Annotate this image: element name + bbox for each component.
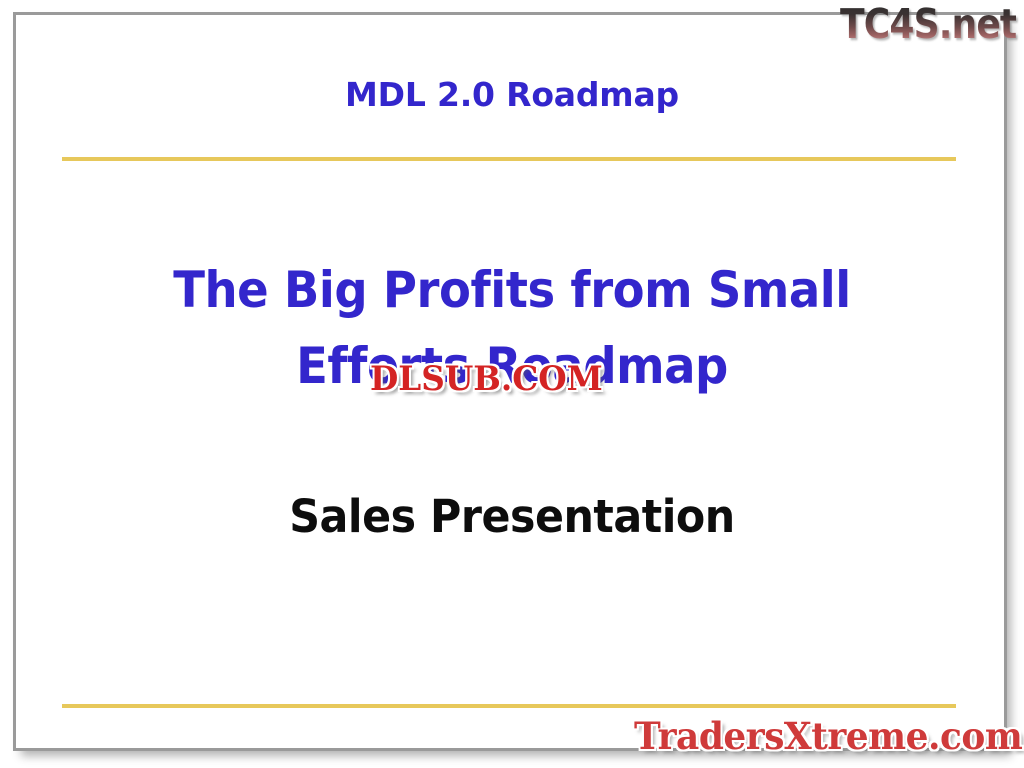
slide-title-line-1: The Big Profits from Small — [36, 252, 988, 328]
slide-title: The Big Profits from Small Efforts Roadm… — [36, 252, 988, 404]
slide-header: MDL 2.0 Roadmap — [0, 75, 1024, 114]
slide-canvas: MDL 2.0 Roadmap The Big Profits from Sma… — [0, 0, 1024, 768]
slide-title-line-2: Efforts Roadmap — [36, 328, 988, 404]
divider-bottom — [62, 704, 956, 708]
slide-subtitle: Sales Presentation — [26, 490, 999, 543]
divider-top — [62, 157, 956, 161]
